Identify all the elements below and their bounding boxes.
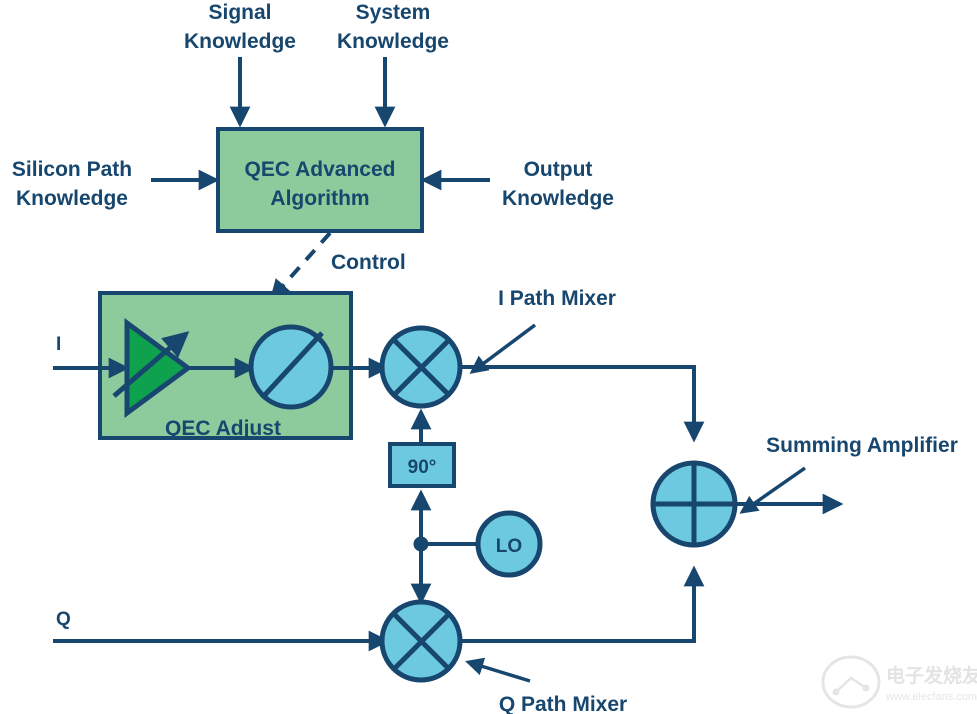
phase-shifter <box>251 327 331 407</box>
lo-junction-dot <box>414 537 429 552</box>
lo-distribution-wires <box>414 493 482 601</box>
i-path-output-wire <box>460 367 694 439</box>
system-knowledge-line2: Knowledge <box>337 30 449 53</box>
summing-amplifier-label: Summing Amplifier <box>766 434 958 457</box>
output-knowledge-line1: Output <box>524 158 593 181</box>
q-path-output-wire <box>460 569 694 641</box>
lo-label: LO <box>496 536 522 557</box>
watermark-url: www.elecfans.com <box>885 691 977 703</box>
diagram-svg: Signal Knowledge System Knowledge Silico… <box>0 0 977 714</box>
i-path-mixer-callout-arrow <box>472 325 535 372</box>
signal-knowledge-line1: Signal <box>208 1 271 24</box>
q-path-mixer-callout-arrow <box>468 662 530 681</box>
silicon-path-knowledge-line1: Silicon Path <box>12 158 132 181</box>
signal-knowledge-label: Signal Knowledge <box>184 1 296 53</box>
algorithm-line1: QEC Advanced <box>245 158 396 181</box>
block-diagram-canvas: Signal Knowledge System Knowledge Silico… <box>0 0 977 714</box>
q-input-label: Q <box>56 609 71 630</box>
output-knowledge-line2: Knowledge <box>502 187 614 210</box>
watermark: 电子发烧友 www.elecfans.com <box>823 657 977 707</box>
system-knowledge-label: System Knowledge <box>337 1 449 53</box>
silicon-path-knowledge-line2: Knowledge <box>16 187 128 210</box>
i-input-label: I <box>56 334 61 355</box>
system-knowledge-line1: System <box>356 1 431 24</box>
i-path-mixer[interactable] <box>382 328 460 406</box>
control-dashed-arrow <box>272 233 330 298</box>
control-label: Control <box>331 251 406 274</box>
q-path-mixer-label: Q Path Mixer <box>499 693 627 714</box>
output-knowledge-label: Output Knowledge <box>502 158 614 210</box>
algorithm-line2: Algorithm <box>270 187 369 210</box>
signal-knowledge-line2: Knowledge <box>184 30 296 53</box>
summing-amplifier[interactable] <box>653 463 735 545</box>
phase-90-label: 90° <box>408 457 437 478</box>
q-path-mixer[interactable] <box>382 602 460 680</box>
qec-adjust-label: QEC Adjust <box>165 417 281 440</box>
i-path-mixer-label: I Path Mixer <box>498 287 616 310</box>
silicon-path-knowledge-label: Silicon Path Knowledge <box>12 158 132 210</box>
watermark-text: 电子发烧友 <box>886 664 977 687</box>
